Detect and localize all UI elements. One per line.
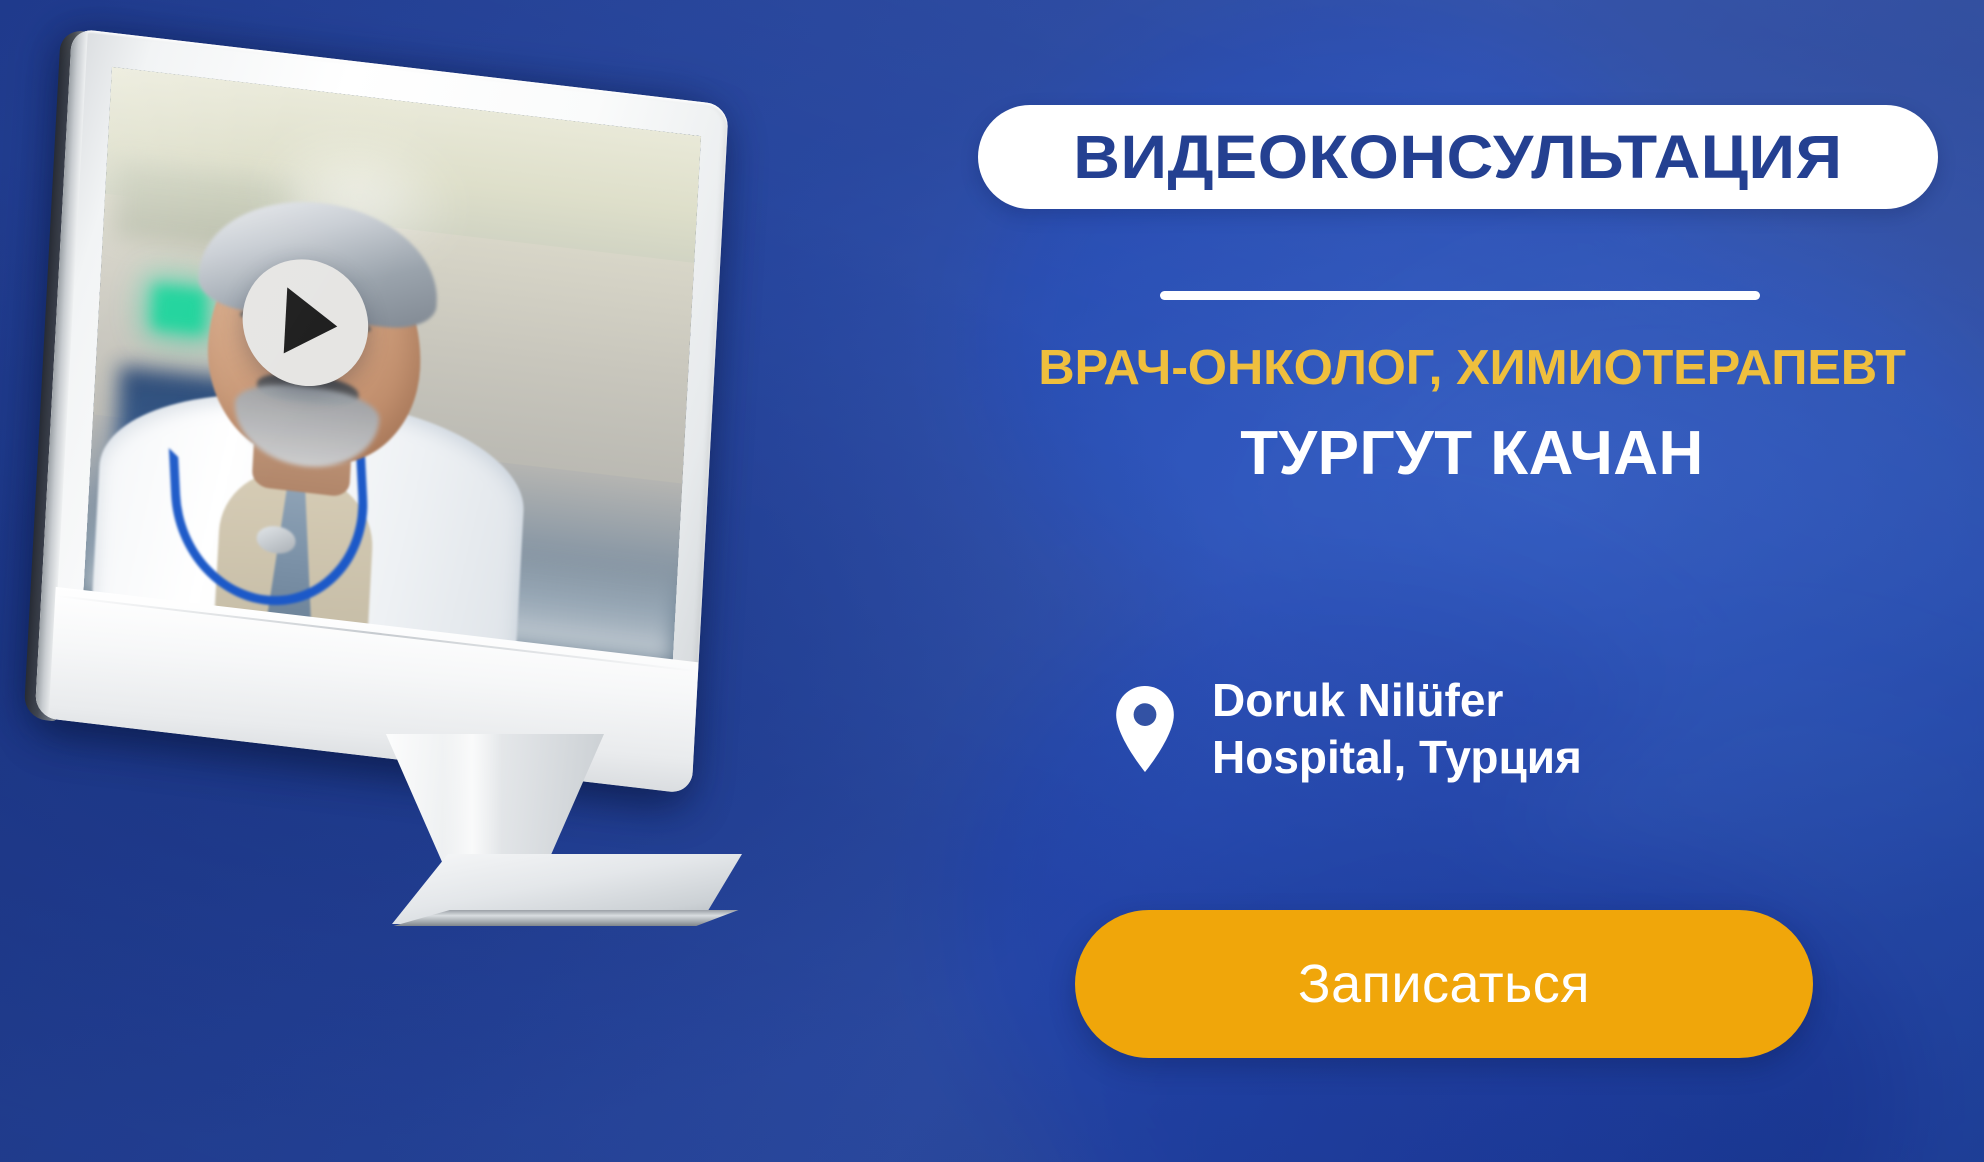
monitor-stand-base-edge bbox=[390, 910, 742, 926]
location-block: Doruk Nilüfer Hospital, Турция bbox=[1114, 672, 1582, 786]
doctor-specialty: ВРАЧ-ОНКОЛОГ, ХИМИОТЕРАПЕВТ bbox=[945, 340, 1984, 396]
video-monitor bbox=[72, 28, 792, 888]
play-triangle-icon bbox=[284, 288, 339, 360]
doctor-name: ТУРГУТ КАЧАН bbox=[960, 418, 1984, 489]
monitor-body bbox=[35, 28, 729, 794]
monitor-bezel bbox=[35, 28, 729, 794]
divider bbox=[1160, 291, 1760, 300]
map-pin-icon bbox=[1114, 686, 1176, 772]
location-line-1: Doruk Nilüfer bbox=[1212, 672, 1582, 729]
content-column: ВИДЕОКОНСУЛЬТАЦИЯ ВРАЧ-ОНКОЛОГ, ХИМИОТЕР… bbox=[960, 0, 1984, 1162]
book-appointment-button[interactable]: Записаться bbox=[1075, 910, 1813, 1058]
page-title: ВИДЕОКОНСУЛЬТАЦИЯ bbox=[1073, 122, 1842, 192]
title-pill: ВИДЕОКОНСУЛЬТАЦИЯ bbox=[978, 105, 1938, 209]
location-text: Doruk Nilüfer Hospital, Турция bbox=[1212, 672, 1582, 786]
location-line-2: Hospital, Турция bbox=[1212, 729, 1582, 786]
promo-banner: ВИДЕОКОНСУЛЬТАЦИЯ ВРАЧ-ОНКОЛОГ, ХИМИОТЕР… bbox=[0, 0, 1984, 1162]
video-screen[interactable] bbox=[83, 67, 701, 663]
